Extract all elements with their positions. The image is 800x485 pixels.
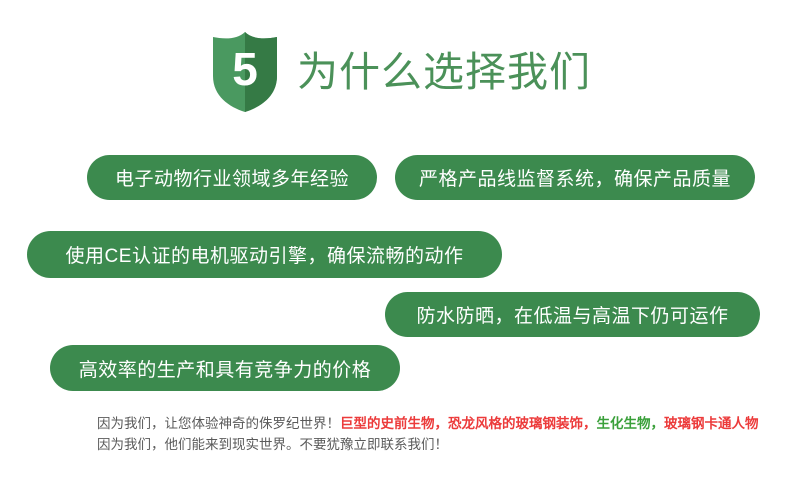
footer-line2-segment-dark: 因为我们，他们能来到现实世界。不要犹豫立即联系我们！ [97,437,448,452]
footer-line1-segment-dark: 因为我们，让您体验神奇的侏罗纪世界！ [97,416,340,431]
feature-badge-3: 使用CE认证的电机驱动引擎，确保流畅的动作 [27,231,502,278]
feature-badge-5: 高效率的生产和具有竞争力的价格 [50,345,400,391]
footer-line1-segment-red-1: 巨型的史前生物，恐龙风格的玻璃钢装饰， [340,416,597,431]
footer-line-2: 因为我们，他们能来到现实世界。不要犹豫立即联系我们！ [97,434,797,455]
feature-badge-label: 电子动物行业领域多年经验 [115,164,349,191]
feature-badge-2: 严格产品线监督系统，确保产品质量 [395,155,755,200]
feature-badge-label: 严格产品线监督系统，确保产品质量 [419,164,731,191]
footer-line-1: 因为我们，让您体验神奇的侏罗纪世界！巨型的史前生物，恐龙风格的玻璃钢装饰，生化生… [97,413,797,434]
footer-line1-segment-green: 生化生物， [597,416,665,431]
header: 5 为什么选择我们 [0,26,800,118]
feature-badge-4: 防水防晒，在低温与高温下仍可运作 [385,292,760,337]
footer-text: 因为我们，让您体验神奇的侏罗纪世界！巨型的史前生物，恐龙风格的玻璃钢装饰，生化生… [97,413,797,455]
feature-badge-label: 防水防晒，在低温与高温下仍可运作 [416,301,728,328]
promo-banner: 5 为什么选择我们 电子动物行业领域多年经验 严格产品线监督系统，确保产品质量 … [0,0,800,485]
page-title: 为什么选择我们 [297,52,591,93]
shield-number: 5 [209,30,281,114]
feature-badge-1: 电子动物行业领域多年经验 [87,155,377,200]
feature-badge-label: 使用CE认证的电机驱动引擎，确保流畅的动作 [66,241,464,268]
feature-badge-label: 高效率的生产和具有竞争力的价格 [79,355,372,382]
footer-line1-segment-red-2: 玻璃钢卡通人物 [664,416,759,431]
shield-icon: 5 [209,30,281,114]
